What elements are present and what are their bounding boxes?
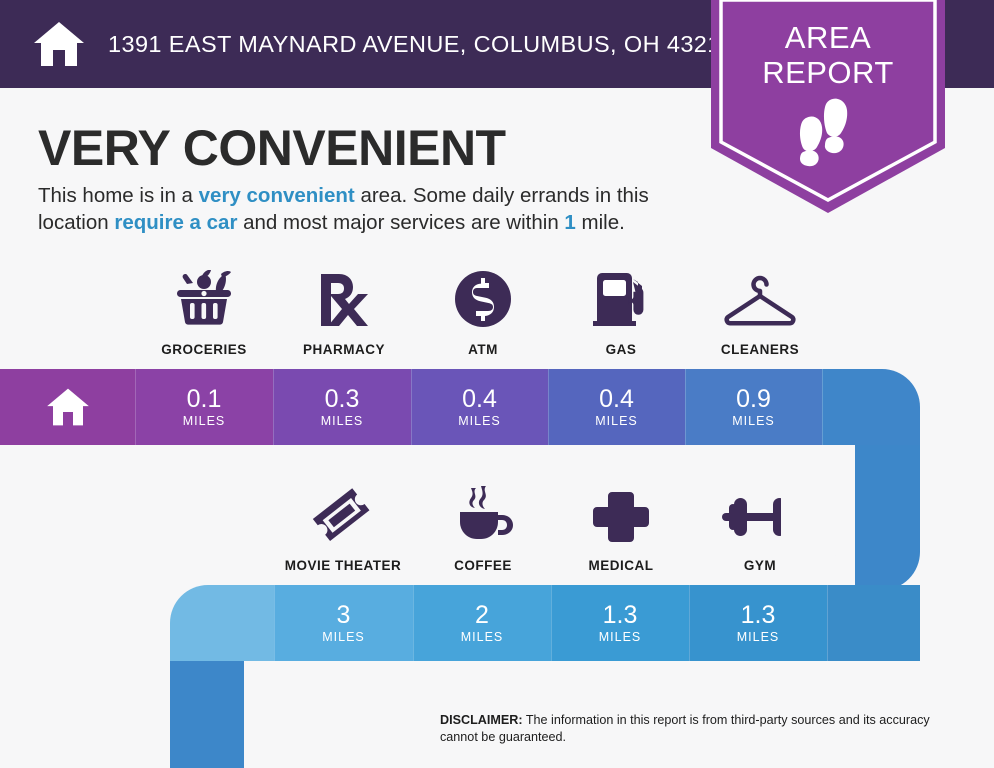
dollar-circle-icon: [423, 268, 543, 330]
badge-line-1: AREA: [711, 20, 945, 55]
distance-bar-row-2: 3 MILES 2 MILES 1.3 MILES 1.3 MILES: [170, 585, 920, 661]
summary-highlight-1: very convenient: [199, 184, 355, 207]
category-label: MEDICAL: [561, 558, 681, 573]
bar-cell-gas: 0.4 MILES: [548, 369, 685, 445]
bar-unit: MILES: [183, 414, 226, 428]
bar-value: 3: [337, 602, 351, 628]
bar-unit: MILES: [737, 630, 780, 644]
medical-cross-icon: [561, 484, 681, 546]
clothes-hanger-icon: [700, 268, 820, 330]
bar-unit: MILES: [732, 414, 775, 428]
category-medical: MEDICAL: [561, 484, 681, 573]
bar-unit: MILES: [599, 630, 642, 644]
category-label: GYM: [700, 558, 820, 573]
bar-cell-movie-theater: 3 MILES: [274, 585, 413, 661]
category-cleaners: CLEANERS: [700, 268, 820, 357]
bar-connector-left: [170, 655, 244, 768]
category-label: GAS: [561, 342, 681, 357]
bar-value: 1.3: [741, 602, 776, 628]
category-atm: ATM: [423, 268, 543, 357]
category-label: GROCERIES: [144, 342, 264, 357]
bar-notch-left: [244, 655, 324, 768]
bar-value: 2: [475, 602, 489, 628]
summary-part-1: This home is in a: [38, 184, 199, 207]
category-pharmacy: PHARMACY: [284, 268, 404, 357]
bar-value: 0.1: [187, 386, 222, 412]
bar-cell-pharmacy: 0.3 MILES: [273, 369, 411, 445]
bar-unit: MILES: [321, 414, 364, 428]
grocery-basket-icon: [144, 268, 264, 330]
category-label: PHARMACY: [284, 342, 404, 357]
bar-unit: MILES: [595, 414, 638, 428]
category-label: MOVIE THEATER: [283, 558, 403, 573]
bar-unit: MILES: [322, 630, 365, 644]
category-coffee: COFFEE: [423, 484, 543, 573]
bar-cell-groceries: 0.1 MILES: [135, 369, 273, 445]
header-address: 1391 EAST MAYNARD AVENUE, COLUMBUS, OH 4…: [108, 31, 732, 58]
summary-text: This home is in a very convenient area. …: [38, 182, 708, 236]
disclaimer: DISCLAIMER: The information in this repo…: [440, 712, 960, 746]
category-movie-theater: MOVIE THEATER: [283, 484, 403, 573]
bar-cell-lead: [170, 585, 274, 661]
category-gas: GAS: [561, 268, 681, 357]
bar-value: 0.4: [462, 386, 497, 412]
category-groceries: GROCERIES: [144, 268, 264, 357]
page-title: VERY CONVENIENT: [38, 119, 506, 177]
bar-unit: MILES: [461, 630, 504, 644]
bar-cell-medical: 1.3 MILES: [551, 585, 689, 661]
home-icon: [32, 20, 86, 68]
movie-ticket-icon: [283, 484, 403, 546]
summary-part-4: mile.: [576, 211, 625, 234]
bar-value: 0.3: [325, 386, 360, 412]
bar-cell-tail: [822, 369, 920, 445]
home-icon: [45, 387, 91, 427]
bar-cell-tail: [827, 585, 920, 661]
gas-pump-icon: [561, 268, 681, 330]
bar-cell-atm: 0.4 MILES: [411, 369, 548, 445]
category-label: CLEANERS: [700, 342, 820, 357]
bar-unit: MILES: [458, 414, 501, 428]
category-label: ATM: [423, 342, 543, 357]
bar-cell-coffee: 2 MILES: [413, 585, 551, 661]
area-report-badge-text: AREA REPORT: [711, 20, 945, 90]
bar-notch-right: [781, 440, 855, 560]
summary-highlight-2: require a car: [114, 211, 237, 234]
bar-cell-gym: 1.3 MILES: [689, 585, 827, 661]
coffee-cup-icon: [423, 484, 543, 546]
disclaimer-label: DISCLAIMER:: [440, 713, 523, 727]
area-report-badge: AREA REPORT: [711, 0, 945, 213]
bar-value: 0.4: [599, 386, 634, 412]
prescription-rx-icon: [284, 268, 404, 330]
bar-home-cell: [0, 369, 135, 445]
bar-value: 1.3: [603, 602, 638, 628]
distance-bar-row-1: 0.1 MILES 0.3 MILES 0.4 MILES 0.4 MILES …: [0, 369, 920, 445]
summary-part-3: and most major services are within: [237, 211, 564, 234]
badge-line-2: REPORT: [711, 55, 945, 90]
bar-value: 0.9: [736, 386, 771, 412]
category-label: COFFEE: [423, 558, 543, 573]
bar-connector-right: [855, 440, 920, 590]
bar-cell-cleaners: 0.9 MILES: [685, 369, 822, 445]
summary-highlight-3: 1: [564, 211, 575, 234]
